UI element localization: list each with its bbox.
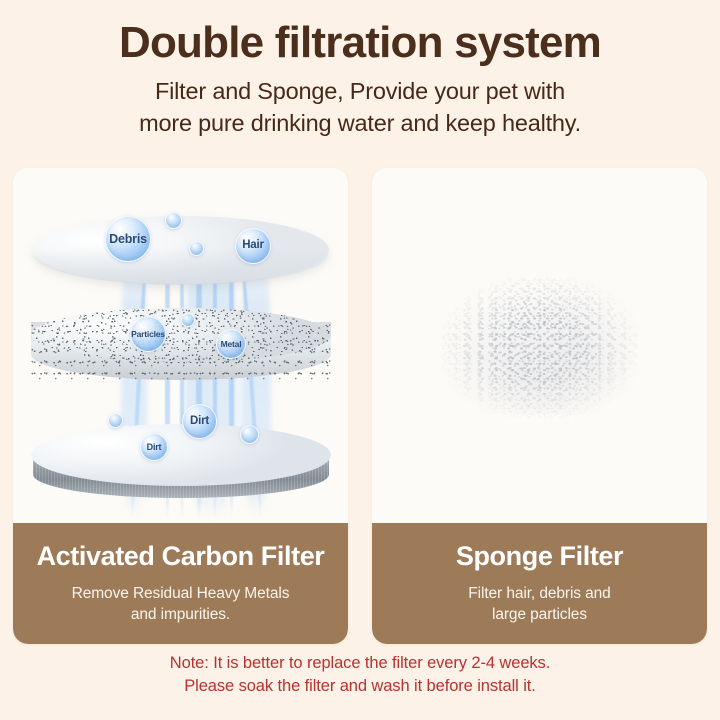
sponge-wrapper: [372, 168, 707, 523]
bubble-decorative: [108, 413, 123, 428]
caption-subtitle: Remove Residual Heavy Metals and impurit…: [72, 583, 290, 625]
bubble-label-metal: Metal: [216, 329, 246, 359]
feature-card-list: Debris Hair Particles Metal Dirt Dirt Ac…: [13, 168, 707, 644]
bubble-decorative: [240, 425, 259, 444]
page-subtitle: Filter and Sponge, Provide your pet with…: [0, 76, 720, 139]
bubble-label-particles: Particles: [130, 316, 166, 352]
caption-title: Sponge Filter: [456, 542, 623, 572]
bubble-label-dirt-lower: Dirt: [140, 433, 168, 461]
footer-note: Note: It is better to replace the filter…: [0, 652, 720, 699]
carbon-granule-texture: [31, 308, 331, 362]
subtitle-line-2: more pure drinking water and keep health…: [0, 108, 720, 139]
bottom-disc-plate: [31, 424, 331, 486]
top-disc-edge: [34, 223, 328, 285]
bubble-decorative: [181, 313, 195, 327]
bubble-label-debris: Debris: [105, 216, 151, 262]
carbon-disc-top-face: [31, 308, 331, 362]
bottom-filter-disc: [31, 424, 331, 514]
top-filter-disc: [33, 216, 329, 284]
caption-title: Activated Carbon Filter: [37, 542, 325, 572]
card-sponge-filter[interactable]: Sponge Filter Filter hair, debris and la…: [372, 168, 707, 644]
footer-note-line-2: Please soak the filter and wash it befor…: [0, 675, 720, 698]
carbon-filter-illustration: Debris Hair Particles Metal Dirt Dirt: [13, 168, 348, 523]
sponge-edge-fade: [439, 274, 641, 421]
subtitle-line-1: Filter and Sponge, Provide your pet with: [0, 76, 720, 107]
infographic-page: Double filtration system Filter and Spon…: [0, 0, 720, 720]
caption-sub-line-1: Filter hair, debris and: [468, 583, 610, 604]
bubble-decorative: [165, 212, 182, 229]
filter-disc-stack: Debris Hair Particles Metal Dirt Dirt: [13, 168, 348, 523]
bubble-decorative: [189, 241, 204, 256]
footer-note-line-1: Note: It is better to replace the filter…: [0, 652, 720, 675]
page-title: Double filtration system: [0, 18, 720, 67]
caption-sub-line-2: large particles: [468, 604, 610, 625]
header: Double filtration system Filter and Spon…: [0, 0, 720, 139]
caption-sub-line-2: and impurities.: [72, 604, 290, 625]
bubble-label-hair: Hair: [235, 228, 271, 264]
caption-activated-carbon-filter: Activated Carbon Filter Remove Residual …: [13, 523, 348, 644]
bubble-label-dirt-upper: Dirt: [182, 404, 217, 439]
caption-sub-line-1: Remove Residual Heavy Metals: [72, 583, 290, 604]
sponge-block: [445, 280, 635, 415]
caption-subtitle: Filter hair, debris and large particles: [468, 583, 610, 625]
card-activated-carbon-filter[interactable]: Debris Hair Particles Metal Dirt Dirt Ac…: [13, 168, 348, 644]
sponge-filter-illustration: [372, 168, 707, 523]
caption-sponge-filter: Sponge Filter Filter hair, debris and la…: [372, 523, 707, 644]
